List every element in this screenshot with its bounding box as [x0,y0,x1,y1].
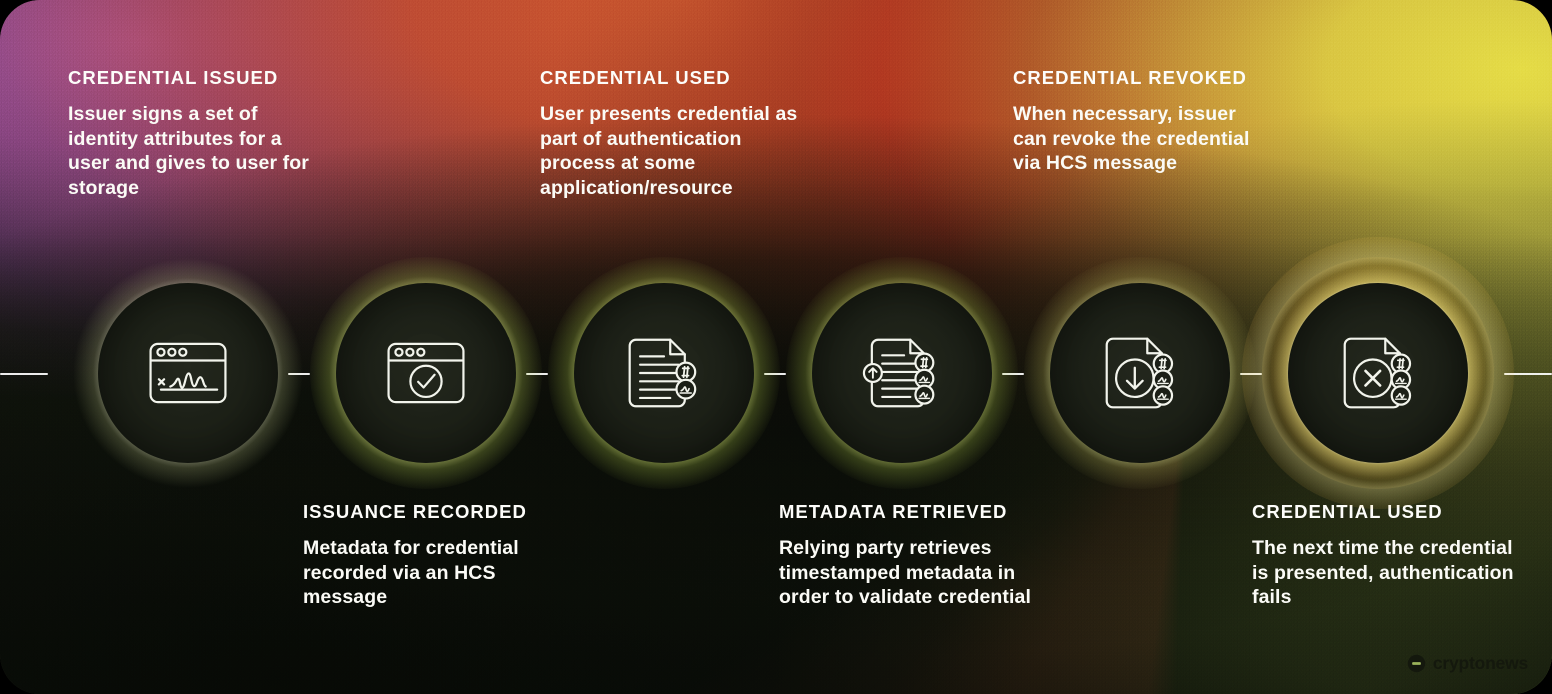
flow-connector-start [0,373,48,375]
brand-name: cryptonews [1433,653,1528,674]
cryptonews-logo-icon [1407,654,1426,673]
node-disc [1050,283,1230,463]
document-revoked-x-icon [1326,321,1430,425]
node-disc [98,283,278,463]
brand-watermark: cryptonews [1407,653,1528,674]
process-flow-rail [0,0,1552,694]
document-download-icon [1088,321,1192,425]
flow-node-credential-used[interactable] [574,283,754,463]
document-upload-metadata-icon [850,321,954,425]
node-disc [574,283,754,463]
browser-signature-icon [136,321,240,425]
document-hash-signature-icon [612,321,716,425]
flow-node-metadata-retrieved[interactable] [812,283,992,463]
flow-node-credential-used-fails[interactable] [1288,283,1468,463]
flow-node-credential-issued[interactable] [98,283,278,463]
flow-connector-3-4 [764,373,786,375]
flow-node-credential-revoked[interactable] [1050,283,1230,463]
node-disc [1288,283,1468,463]
browser-check-icon [374,321,478,425]
node-disc [812,283,992,463]
node-disc [336,283,516,463]
flow-connector-4-5 [1002,373,1024,375]
flow-connector-2-3 [526,373,548,375]
flow-node-issuance-recorded[interactable] [336,283,516,463]
flow-connector-1-2 [288,373,310,375]
infographic-canvas: CREDENTIAL ISSUED Issuer signs a set of … [0,0,1552,694]
